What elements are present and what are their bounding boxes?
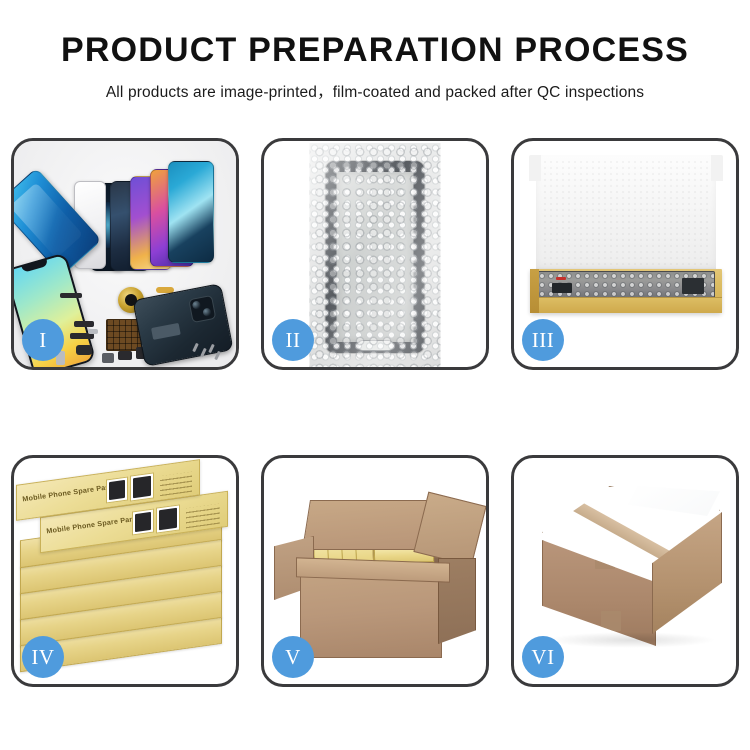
carton-front-face (300, 570, 442, 658)
process-step-card-6[interactable]: VI (511, 455, 739, 687)
process-step-card-2[interactable]: II (261, 138, 489, 370)
carton-flap-back (302, 500, 430, 550)
kraft-box-side (530, 269, 539, 313)
white-foam-lid (536, 155, 716, 271)
process-step-card-3[interactable]: III (511, 138, 739, 370)
process-step-card-4[interactable]: Mobile Phone Spare Parts Mobile Phone Sp… (11, 455, 239, 687)
process-step-card-1[interactable]: I (11, 138, 239, 370)
page-subtitle: All products are image-printed，film-coat… (0, 80, 750, 102)
kraft-box-tray (530, 269, 722, 313)
badge-step-5: V (272, 636, 314, 678)
page-title: PRODUCT PREPARATION PROCESS (0, 31, 750, 69)
wrapped-screen-in-box (537, 271, 715, 299)
page-header: PRODUCT PREPARATION PROCESS All products… (0, 0, 750, 102)
process-step-grid: I II (11, 138, 739, 687)
process-step-card-5[interactable]: V (261, 455, 489, 687)
screws-group (194, 343, 220, 361)
badge-step-3: III (522, 319, 564, 361)
badge-step-4: IV (22, 636, 64, 678)
badge-step-1: I (22, 319, 64, 361)
phone-display-fan (76, 159, 236, 279)
sealed-shipping-carton (532, 482, 724, 662)
bubble-wrap-sheen (310, 143, 441, 367)
badge-step-2: II (272, 319, 314, 361)
badge-step-6: VI (522, 636, 564, 678)
